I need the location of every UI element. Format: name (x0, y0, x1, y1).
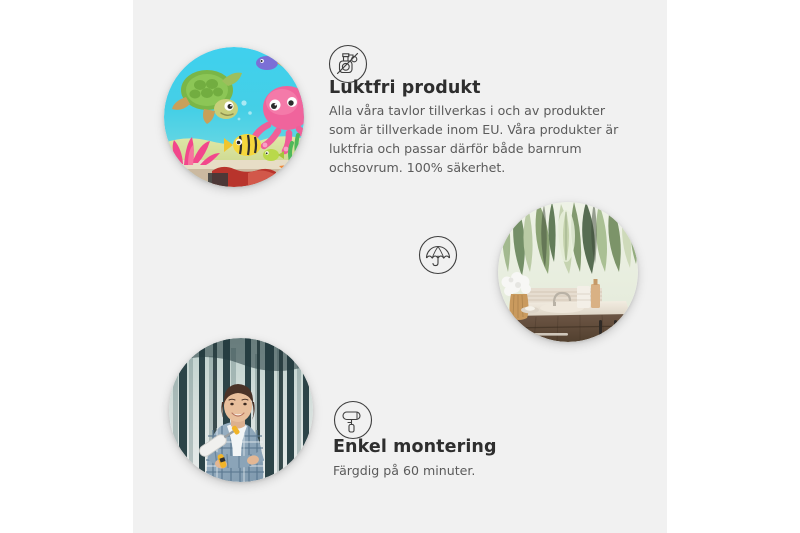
feature-headline: Enkel montering (333, 437, 497, 457)
bathroom-vanity-photo (498, 202, 638, 342)
underwater-scene-photo (164, 47, 304, 187)
feature-headline: Luktfri produkt (329, 78, 481, 98)
umbrella-icon (418, 235, 458, 275)
feature-body-text: Färgdig på 60 minuter. (333, 461, 633, 480)
promo-feature-page: Luktfri produkt Alla våra tavlor tillver… (0, 0, 800, 533)
content-canvas: Luktfri produkt Alla våra tavlor tillver… (133, 0, 667, 533)
decorator-forest-photo (169, 338, 313, 482)
feature-body-text: Alla våra tavlor tillverkas i och av pro… (329, 101, 621, 178)
paint-roller-icon (333, 400, 373, 440)
